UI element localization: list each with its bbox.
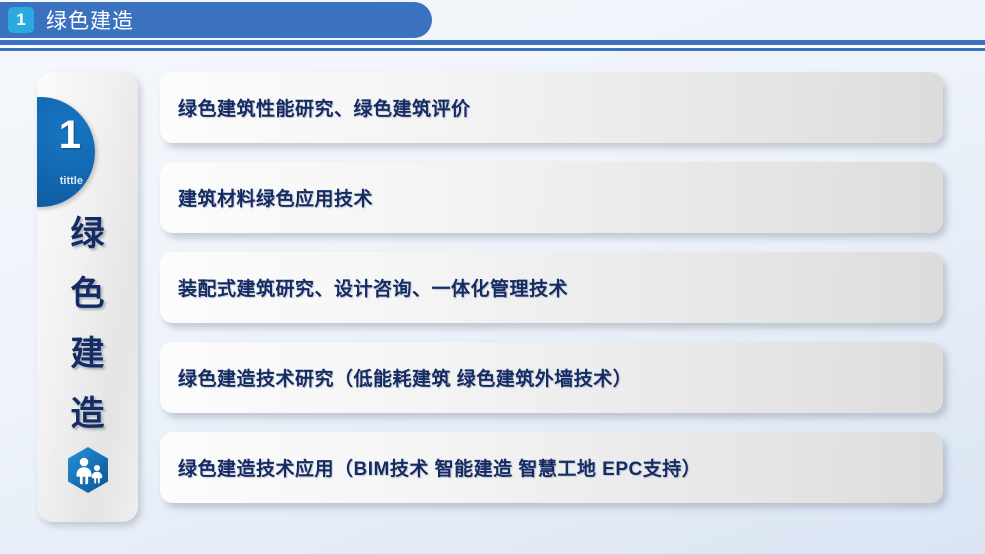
content-bar[interactable]: 绿色建造技术应用（BIM技术 智能建造 智慧工地 EPC支持） xyxy=(160,432,943,503)
content-bar[interactable]: 建筑材料绿色应用技术 xyxy=(160,162,943,233)
content-bar-list: 绿色建筑性能研究、绿色建筑评价 建筑材料绿色应用技术 装配式建筑研究、设计咨询、… xyxy=(160,72,950,522)
sidebar-title-char: 色 xyxy=(71,277,105,311)
content-bar-label: 绿色建造技术应用（BIM技术 智能建造 智慧工地 EPC支持） xyxy=(178,454,701,481)
header-divider-thin xyxy=(0,48,985,51)
content-bar-label: 绿色建筑性能研究、绿色建筑评价 xyxy=(178,94,471,121)
content-bar[interactable]: 绿色建造技术研究（低能耗建筑 绿色建筑外墙技术） xyxy=(160,342,943,413)
page-title: 绿色建造 xyxy=(46,5,134,35)
content-bar-label: 建筑材料绿色应用技术 xyxy=(178,184,373,211)
content-bar-label: 装配式建筑研究、设计咨询、一体化管理技术 xyxy=(178,274,568,301)
content-bar[interactable]: 装配式建筑研究、设计咨询、一体化管理技术 xyxy=(160,252,943,323)
sidebar-title-char: 绿 xyxy=(71,217,105,251)
header-pill: 1 绿色建造 xyxy=(0,2,432,38)
sidebar-circle-number: 1 xyxy=(59,115,81,155)
sidebar-title-char: 建 xyxy=(71,337,105,371)
content-bar-label: 绿色建造技术研究（低能耗建筑 绿色建筑外墙技术） xyxy=(178,364,632,391)
header-section-number: 1 xyxy=(8,7,34,33)
sidebar-panel: 1 tittle 绿 色 建 造 xyxy=(37,72,138,522)
sidebar-title-char: 造 xyxy=(71,397,105,431)
sidebar-number-circle: 1 tittle xyxy=(37,97,95,207)
sidebar-vertical-title: 绿 色 建 造 xyxy=(37,217,138,457)
family-hexagon-icon xyxy=(66,446,110,494)
sidebar-circle-subtitle: tittle xyxy=(60,176,83,187)
content-bar[interactable]: 绿色建筑性能研究、绿色建筑评价 xyxy=(160,72,943,143)
